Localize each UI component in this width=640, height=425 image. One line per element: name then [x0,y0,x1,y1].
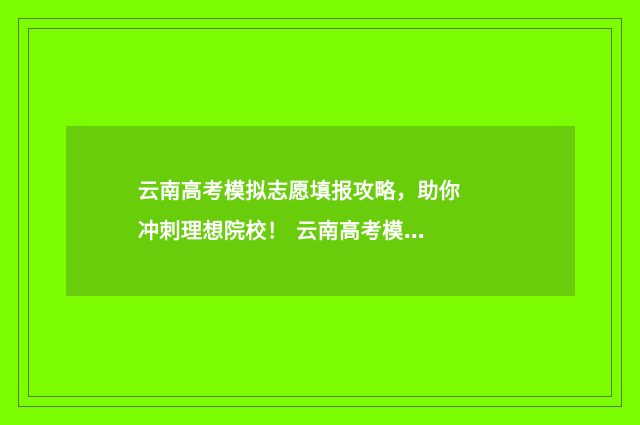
title-block: 云南高考模拟志愿填报攻略，助你 冲刺理想院校！ 云南高考模… [66,171,575,251]
article-title-card[interactable]: 云南高考模拟志愿填报攻略，助你 冲刺理想院校！ 云南高考模… [66,126,575,296]
article-title: 云南高考模拟志愿填报攻略，助你 冲刺理想院校！ 云南高考模… [138,171,525,251]
placeholder-canvas: 云南高考模拟志愿填报攻略，助你 冲刺理想院校！ 云南高考模… [0,0,640,425]
